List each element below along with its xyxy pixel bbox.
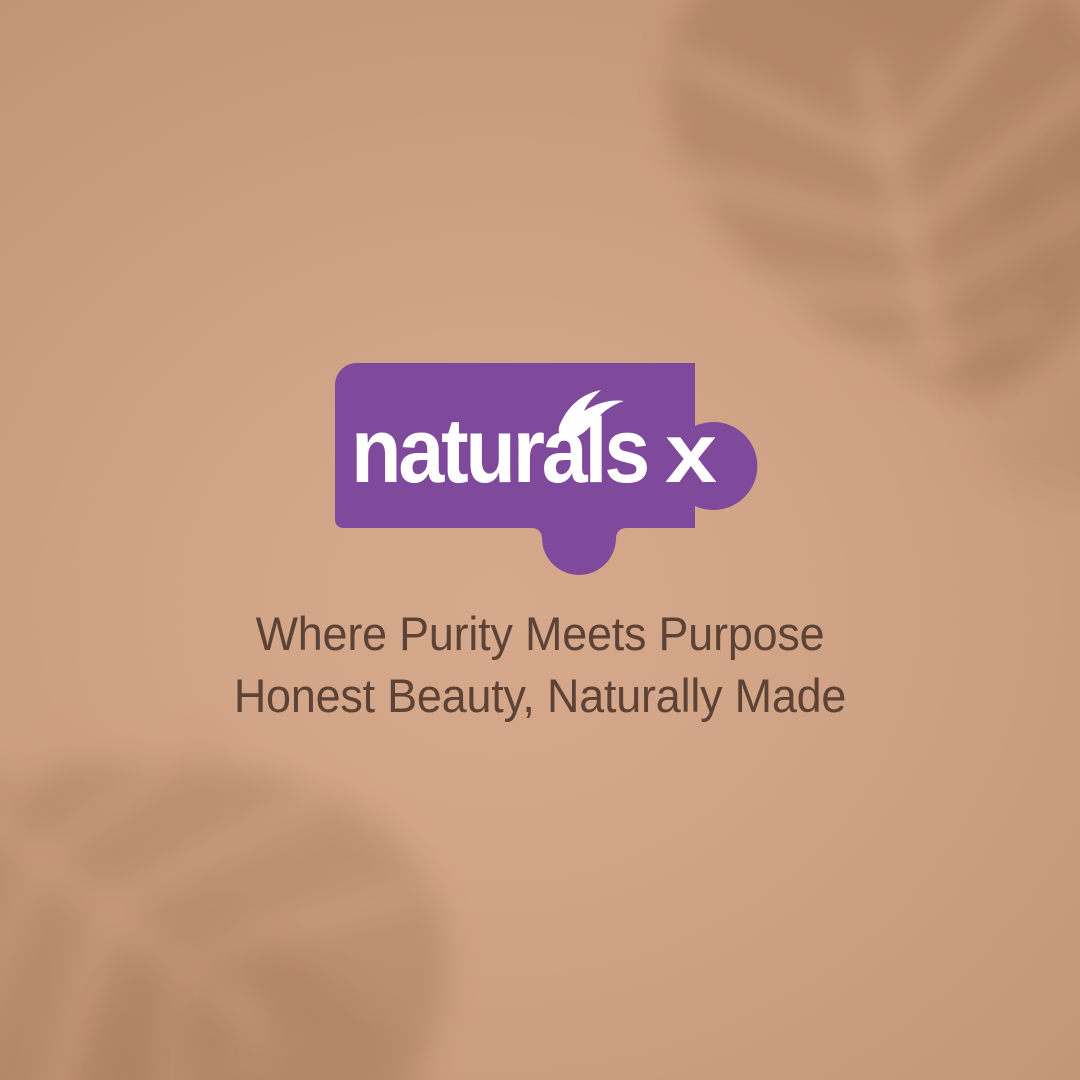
tagline-line-1: Where Purity Meets Purpose bbox=[24, 603, 1055, 665]
wordmark-primary: naturals bbox=[351, 400, 647, 502]
brand-logo[interactable]: naturals x naturals x bbox=[335, 363, 760, 570]
tagline: Where Purity Meets Purpose Honest Beauty… bbox=[24, 603, 1055, 727]
tagline-line-2: Honest Beauty, Naturally Made bbox=[24, 665, 1055, 727]
poster-canvas: naturals x naturals x Where Purity Meets… bbox=[0, 0, 1080, 1080]
wordmark-suffix: x bbox=[665, 406, 717, 500]
